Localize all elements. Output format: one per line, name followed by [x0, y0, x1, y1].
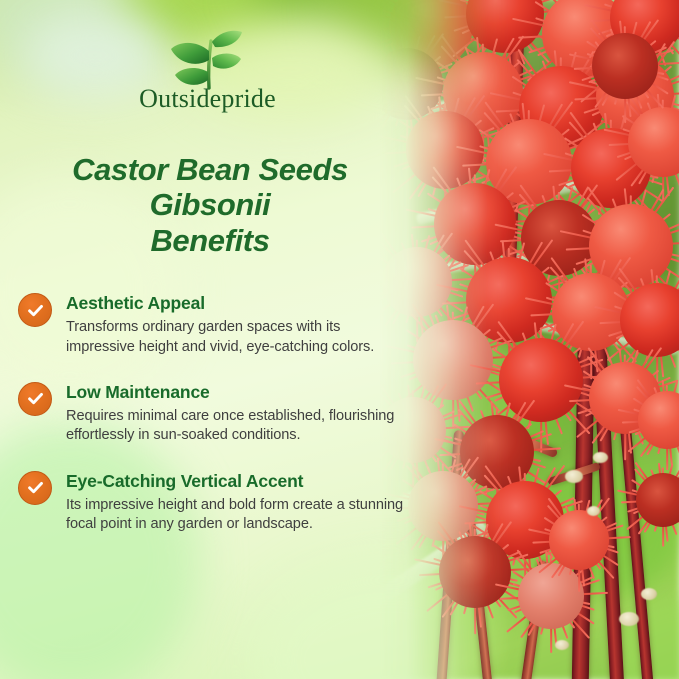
benefit-heading: Aesthetic Appeal: [66, 293, 413, 313]
check-circle-icon: [18, 382, 52, 416]
check-icon: [26, 301, 45, 320]
benefits-list: Aesthetic AppealTransforms ordinary gard…: [18, 292, 413, 535]
check-icon: [26, 389, 45, 408]
benefit-item: Aesthetic AppealTransforms ordinary gard…: [18, 292, 413, 357]
benefit-body: Transforms ordinary garden spaces with i…: [66, 318, 406, 357]
title-line-3: Benefits: [0, 223, 420, 258]
brand-logo[interactable]: Outsidepride: [0, 22, 415, 112]
benefit-text: Aesthetic AppealTransforms ordinary gard…: [66, 292, 413, 357]
benefit-item: Low MaintenanceRequires minimal care onc…: [18, 381, 413, 446]
benefit-text: Low MaintenanceRequires minimal care onc…: [66, 381, 413, 446]
benefit-text: Eye-Catching Vertical AccentIts impressi…: [66, 470, 413, 535]
page-title: Castor Bean Seeds Gibsonii Benefits: [0, 152, 420, 258]
check-icon: [26, 478, 45, 497]
benefit-item: Eye-Catching Vertical AccentIts impressi…: [18, 470, 413, 535]
benefit-body: Its impressive height and bold form crea…: [66, 496, 406, 535]
benefit-heading: Low Maintenance: [66, 382, 413, 402]
sprout-leaves-icon: [162, 22, 254, 90]
infographic-canvas: Outsidepride Castor Bean Seeds Gibsonii …: [0, 0, 679, 679]
benefit-body: Requires minimal care once established, …: [66, 407, 406, 446]
title-line-2: Gibsonii: [0, 187, 420, 222]
check-circle-icon: [18, 471, 52, 505]
content-layer: Outsidepride Castor Bean Seeds Gibsonii …: [0, 0, 679, 679]
check-circle-icon: [18, 293, 52, 327]
benefit-heading: Eye-Catching Vertical Accent: [66, 471, 413, 491]
title-line-1: Castor Bean Seeds: [0, 152, 420, 187]
brand-wordmark: Outsidepride: [139, 86, 276, 112]
